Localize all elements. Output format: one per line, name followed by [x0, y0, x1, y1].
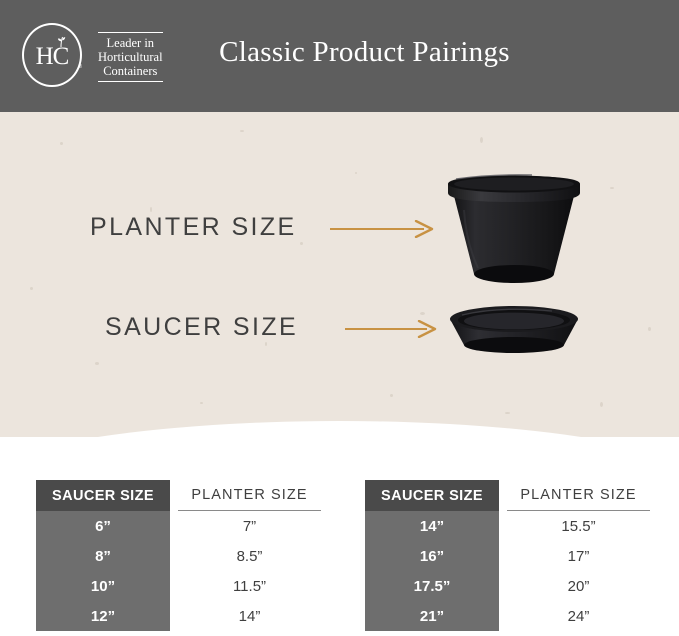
- header-planter-size: PLANTER SIZE: [507, 480, 650, 511]
- texture-speck: [95, 362, 99, 365]
- table-row: 17.5” 20”: [365, 571, 650, 601]
- cell-planter-size: 11.5”: [178, 571, 321, 601]
- texture-speck: [30, 287, 33, 290]
- saucer-size-label: SAUCER SIZE: [105, 313, 298, 342]
- cell-planter-size: 17”: [507, 541, 650, 571]
- column-gap: [170, 601, 178, 631]
- cell-saucer-size: 8”: [36, 541, 170, 571]
- cell-saucer-size: 10”: [36, 571, 170, 601]
- column-gap: [499, 601, 507, 631]
- table-header-row: SAUCER SIZE PLANTER SIZE: [365, 480, 650, 511]
- column-gap: [170, 541, 178, 571]
- panel-curved-edge: [0, 421, 679, 437]
- column-gap: [499, 571, 507, 601]
- planter-pot-image: [440, 170, 588, 290]
- column-gap: [170, 480, 178, 511]
- column-gap: [170, 511, 178, 541]
- table-row: 10” 11.5”: [36, 571, 321, 601]
- header-planter-size: PLANTER SIZE: [178, 480, 321, 511]
- column-gap: [499, 511, 507, 541]
- column-gap: [499, 480, 507, 511]
- texture-speck: [200, 402, 203, 404]
- cell-planter-size: 14”: [178, 601, 321, 631]
- texture-speck: [355, 172, 357, 174]
- cell-saucer-size: 12”: [36, 601, 170, 631]
- texture-speck: [300, 242, 303, 245]
- texture-speck: [240, 130, 244, 132]
- table-row: 21” 24”: [365, 601, 650, 631]
- column-gap: [170, 571, 178, 601]
- texture-speck: [420, 312, 425, 315]
- planter-size-label: PLANTER SIZE: [90, 213, 297, 242]
- cell-saucer-size: 17.5”: [365, 571, 499, 601]
- texture-speck: [390, 394, 393, 397]
- cell-planter-size: 15.5”: [507, 511, 650, 541]
- cell-planter-size: 8.5”: [178, 541, 321, 571]
- header-saucer-size: SAUCER SIZE: [365, 480, 499, 511]
- table-row: 12” 14”: [36, 601, 321, 631]
- table-row: 8” 8.5”: [36, 541, 321, 571]
- texture-speck: [600, 402, 603, 407]
- planter-arrow-icon: [330, 220, 434, 238]
- header-saucer-size: SAUCER SIZE: [36, 480, 170, 511]
- texture-speck: [150, 207, 152, 212]
- cell-saucer-size: 14”: [365, 511, 499, 541]
- page-title: Classic Product Pairings: [0, 36, 679, 69]
- texture-speck: [505, 412, 510, 414]
- cell-planter-size: 7”: [178, 511, 321, 541]
- page-header: HC ® Leader in Horticultural Containers …: [0, 0, 679, 112]
- size-table-large: SAUCER SIZE PLANTER SIZE 14” 15.5” 16” 1…: [365, 480, 650, 631]
- cell-saucer-size: 6”: [36, 511, 170, 541]
- texture-speck: [648, 327, 651, 331]
- logo-rule-bottom: [98, 81, 163, 82]
- texture-speck: [265, 342, 267, 346]
- texture-speck: [480, 137, 483, 143]
- cell-saucer-size: 21”: [365, 601, 499, 631]
- column-gap: [499, 541, 507, 571]
- saucer-dish-image: [440, 303, 588, 357]
- table-header-row: SAUCER SIZE PLANTER SIZE: [36, 480, 321, 511]
- texture-speck: [60, 142, 63, 145]
- texture-speck: [610, 187, 614, 189]
- table-row: 6” 7”: [36, 511, 321, 541]
- size-table-small: SAUCER SIZE PLANTER SIZE 6” 7” 8” 8.5” 1…: [36, 480, 321, 631]
- cell-saucer-size: 16”: [365, 541, 499, 571]
- table-row: 14” 15.5”: [365, 511, 650, 541]
- cell-planter-size: 24”: [507, 601, 650, 631]
- cell-planter-size: 20”: [507, 571, 650, 601]
- saucer-arrow-icon: [345, 320, 437, 338]
- table-row: 16” 17”: [365, 541, 650, 571]
